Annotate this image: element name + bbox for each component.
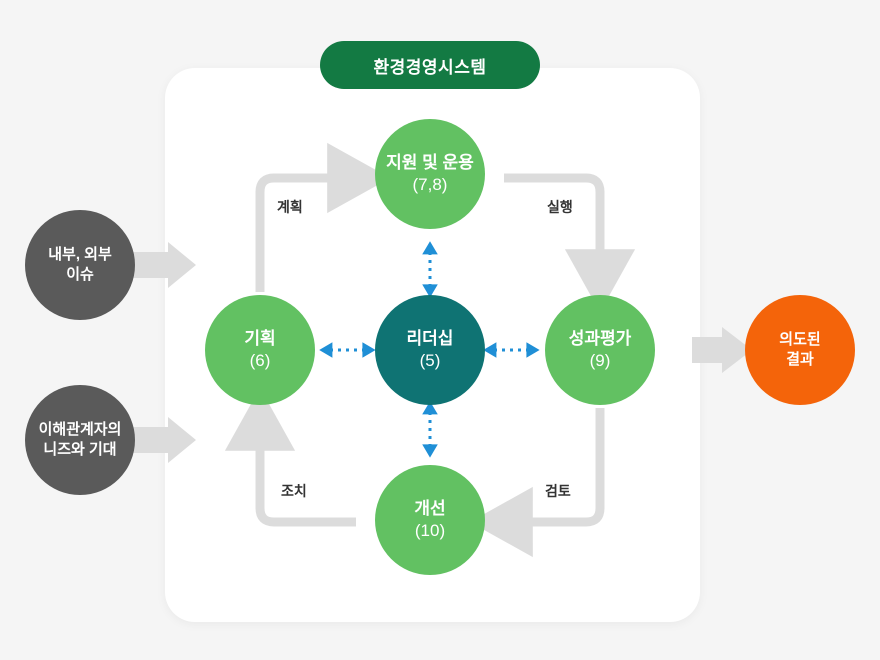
node-planning[interactable]: 기획 (6) — [205, 295, 315, 405]
node-planning-clause: (6) — [250, 350, 271, 372]
node-improvement[interactable]: 개선 (10) — [375, 465, 485, 575]
node-performance-evaluation[interactable]: 성과평가 (9) — [545, 295, 655, 405]
node-support-and-operation[interactable]: 지원 및 운용 (7,8) — [375, 119, 485, 229]
diagram-title-badge: 환경경영시스템 — [320, 41, 540, 89]
node-issues-line1: 내부, 외부 — [48, 245, 112, 265]
curve-arrow-plan-to-support — [260, 178, 356, 292]
node-performance-label: 성과평가 — [569, 328, 632, 350]
node-performance-clause: (9) — [590, 350, 611, 372]
curve-arrow-improvement-to-plan — [260, 422, 356, 522]
flow-label-plan: 계획 — [277, 197, 303, 217]
node-stakeholders-line1: 이해관계자의 — [39, 420, 122, 440]
node-support-label: 지원 및 운용 — [386, 152, 474, 174]
flow-label-do: 실행 — [547, 197, 573, 217]
node-stakeholders-line2: 니즈와 기대 — [43, 440, 116, 460]
flow-label-check: 검토 — [545, 481, 571, 501]
flow-label-act: 조치 — [281, 481, 307, 501]
node-result-line1: 의도된 — [779, 330, 820, 350]
curve-arrow-support-to-performance — [504, 178, 600, 278]
node-leadership-label: 리더십 — [407, 328, 454, 350]
node-issues-line2: 이슈 — [66, 265, 94, 285]
node-improvement-label: 개선 — [414, 498, 445, 520]
node-result-line2: 결과 — [786, 350, 814, 370]
block-arrow-result — [692, 327, 752, 373]
node-stakeholder-needs[interactable]: 이해관계자의 니즈와 기대 — [25, 385, 135, 495]
node-leadership-clause: (5) — [420, 350, 441, 372]
node-improvement-clause: (10) — [415, 520, 445, 542]
node-leadership[interactable]: 리더십 (5) — [375, 295, 485, 405]
node-internal-external-issues[interactable]: 내부, 외부 이슈 — [25, 210, 135, 320]
curve-arrow-performance-to-improvement — [504, 408, 600, 522]
node-intended-result[interactable]: 의도된 결과 — [745, 295, 855, 405]
node-support-clause: (7,8) — [413, 174, 448, 196]
diagram-canvas: 환경경영시스템 지원 및 운용 (7,8) 기획 (6) 리더십 (5) 성과평… — [0, 0, 880, 660]
node-planning-label: 기획 — [244, 328, 275, 350]
diagram-title-text: 환경경영시스템 — [374, 53, 487, 78]
